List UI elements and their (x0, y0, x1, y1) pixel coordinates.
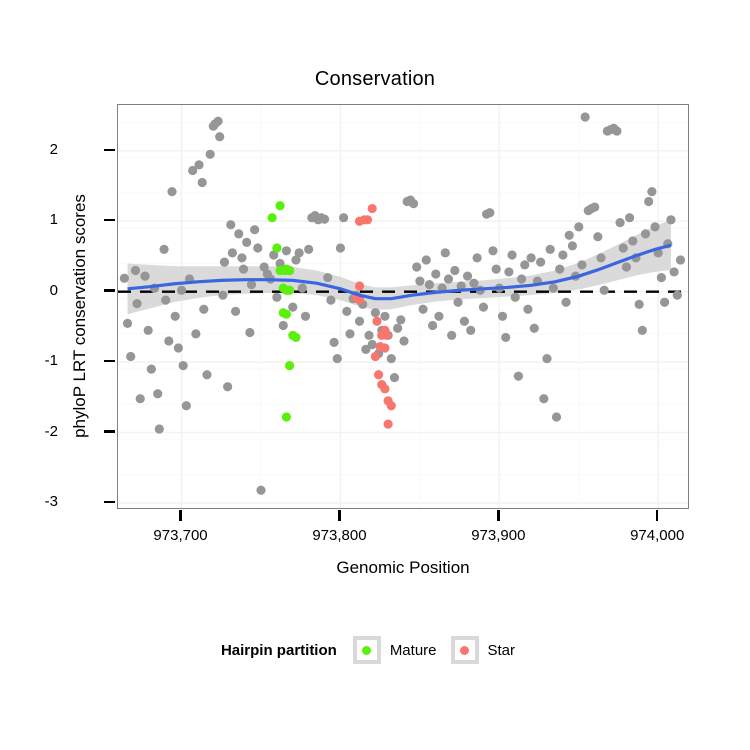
data-point (291, 333, 300, 342)
x-axis-title: Genomic Position (117, 558, 689, 578)
data-point (382, 331, 391, 340)
x-tick-label: 974,000 (597, 527, 717, 544)
data-point (396, 315, 405, 324)
data-point (323, 273, 332, 282)
legend-title: Hairpin partition (221, 642, 337, 659)
data-point (619, 243, 628, 252)
data-point (194, 160, 203, 169)
y-tick-label: 2 (0, 141, 58, 158)
data-point (144, 326, 153, 335)
data-point (676, 255, 685, 264)
data-point (202, 370, 211, 379)
data-point (469, 279, 478, 288)
data-point (527, 253, 536, 262)
data-point (673, 291, 682, 300)
data-point (415, 276, 424, 285)
data-point (368, 204, 377, 213)
data-point (660, 298, 669, 307)
data-point (256, 486, 265, 495)
y-tick (104, 501, 115, 504)
data-point (126, 352, 135, 361)
plot-canvas (118, 105, 689, 509)
data-point (342, 307, 351, 316)
data-point (228, 248, 237, 257)
data-point (329, 338, 338, 347)
data-point (581, 112, 590, 121)
data-point (242, 238, 251, 247)
data-point (393, 324, 402, 333)
data-point (355, 281, 364, 290)
data-point (282, 412, 291, 421)
conservation-scatter-chart: Conservation phyloP LRT conservation sco… (0, 0, 750, 750)
plot-panel (117, 104, 689, 509)
data-point (453, 298, 462, 307)
data-point (206, 150, 215, 159)
legend-item-mature[interactable]: Mature (353, 636, 437, 664)
data-point (412, 262, 421, 271)
legend-label: Star (488, 642, 516, 659)
data-point (285, 286, 294, 295)
data-point (641, 229, 650, 238)
data-point (422, 255, 431, 264)
data-point (447, 331, 456, 340)
data-point (355, 317, 364, 326)
data-point (635, 300, 644, 309)
data-point (279, 321, 288, 330)
data-point (650, 222, 659, 231)
data-point (384, 419, 393, 428)
legend: Hairpin partition MatureStar (0, 636, 750, 664)
data-point (511, 293, 520, 302)
x-tick (497, 510, 500, 521)
data-point (380, 384, 389, 393)
data-point (215, 132, 224, 141)
data-point (333, 354, 342, 363)
data-point (507, 250, 516, 259)
data-point (431, 269, 440, 278)
data-point (182, 401, 191, 410)
data-point (514, 372, 523, 381)
plot-panel-wrapper (117, 104, 689, 509)
data-point (363, 215, 372, 224)
data-point (622, 262, 631, 271)
data-point (546, 245, 555, 254)
data-point (479, 303, 488, 312)
data-point (542, 354, 551, 363)
data-point (488, 246, 497, 255)
y-tick (104, 360, 115, 363)
x-tick (179, 510, 182, 521)
data-point (504, 267, 513, 276)
data-point (140, 272, 149, 281)
data-point (466, 326, 475, 335)
y-tick-label: 1 (0, 211, 58, 228)
data-point (552, 412, 561, 421)
data-point (223, 382, 232, 391)
data-point (339, 213, 348, 222)
data-point (218, 291, 227, 300)
data-point (199, 305, 208, 314)
data-point (239, 265, 248, 274)
data-point (220, 257, 229, 266)
data-point (282, 310, 291, 319)
data-point (372, 317, 381, 326)
data-point (174, 343, 183, 352)
data-point (523, 305, 532, 314)
data-point (390, 373, 399, 382)
data-point (164, 336, 173, 345)
legend-key-swatch (353, 636, 381, 664)
legend-dot-icon (460, 646, 469, 655)
data-point (285, 361, 294, 370)
data-point (131, 266, 140, 275)
data-point (234, 229, 243, 238)
data-point (247, 280, 256, 289)
data-point (177, 286, 186, 295)
data-point (517, 274, 526, 283)
legend-label: Mature (390, 642, 437, 659)
data-point (226, 220, 235, 229)
legend-dot-icon (362, 646, 371, 655)
data-point (463, 272, 472, 281)
data-point (460, 317, 469, 326)
data-point (136, 394, 145, 403)
data-point (568, 241, 577, 250)
data-point (577, 260, 586, 269)
data-point (444, 274, 453, 283)
y-tick-label: 0 (0, 282, 58, 299)
data-point (450, 266, 459, 275)
data-point (600, 286, 609, 295)
data-point (275, 201, 284, 210)
data-point (288, 303, 297, 312)
data-point (441, 248, 450, 257)
data-point (147, 365, 156, 374)
x-tick (338, 510, 341, 521)
data-point (191, 329, 200, 338)
data-point (561, 298, 570, 307)
data-point (387, 401, 396, 410)
data-point (596, 253, 605, 262)
data-point (501, 333, 510, 342)
data-point (399, 336, 408, 345)
data-point (132, 299, 141, 308)
data-point (237, 253, 246, 262)
data-point (428, 321, 437, 330)
data-point (231, 307, 240, 316)
legend-entries: MatureStar (353, 636, 529, 664)
data-point (425, 280, 434, 289)
data-point (644, 197, 653, 206)
data-point (558, 250, 567, 259)
data-point (520, 260, 529, 269)
data-point (574, 222, 583, 231)
data-point (268, 213, 277, 222)
data-point (159, 245, 168, 254)
data-point (555, 265, 564, 274)
data-point (549, 284, 558, 293)
data-point (530, 324, 539, 333)
data-point (565, 231, 574, 240)
data-point (418, 305, 427, 314)
data-point (214, 117, 223, 126)
x-tick-label: 973,800 (279, 527, 399, 544)
y-tick-label: -3 (0, 493, 58, 510)
data-point (298, 284, 307, 293)
y-tick (104, 149, 115, 152)
page-title: Conservation (0, 68, 750, 91)
data-point (320, 215, 329, 224)
data-point (666, 215, 675, 224)
data-point (612, 126, 621, 135)
y-tick-label: -1 (0, 352, 58, 369)
data-point (120, 274, 129, 283)
data-point (272, 293, 281, 302)
data-point (155, 424, 164, 433)
data-point (336, 243, 345, 252)
data-point (371, 352, 380, 361)
data-point (492, 265, 501, 274)
data-point (434, 312, 443, 321)
data-point (198, 178, 207, 187)
x-tick-label: 973,700 (121, 527, 241, 544)
data-point (304, 245, 313, 254)
data-point (536, 257, 545, 266)
y-tick (104, 289, 115, 292)
data-point (345, 329, 354, 338)
data-point (295, 248, 304, 257)
data-point (380, 312, 389, 321)
data-point (539, 394, 548, 403)
y-tick (104, 430, 115, 433)
data-point (371, 308, 380, 317)
data-point (285, 266, 294, 275)
data-point (326, 296, 335, 305)
data-point (301, 312, 310, 321)
data-point (670, 267, 679, 276)
data-point (179, 361, 188, 370)
data-point (625, 213, 634, 222)
data-point (615, 218, 624, 227)
legend-key-swatch (451, 636, 479, 664)
data-point (161, 296, 170, 305)
data-point (498, 312, 507, 321)
data-point (171, 312, 180, 321)
data-point (647, 187, 656, 196)
x-tick-label: 973,900 (438, 527, 558, 544)
data-point (123, 319, 132, 328)
y-tick-label: -2 (0, 423, 58, 440)
data-point (253, 243, 262, 252)
data-point (368, 340, 377, 349)
data-point (387, 354, 396, 363)
x-tick (656, 510, 659, 521)
data-point (590, 203, 599, 212)
data-point (245, 328, 254, 337)
data-point (250, 225, 259, 234)
y-axis-title: phyloP LRT conservation scores (70, 106, 90, 526)
data-point (153, 389, 162, 398)
data-point (282, 246, 291, 255)
y-tick (104, 219, 115, 222)
data-point (472, 253, 481, 262)
data-point (380, 343, 389, 352)
data-point (593, 232, 602, 241)
data-point (364, 331, 373, 340)
data-point (628, 236, 637, 245)
data-point (272, 243, 281, 252)
legend-item-star[interactable]: Star (451, 636, 516, 664)
data-point (374, 370, 383, 379)
data-point (638, 326, 647, 335)
data-point (167, 187, 176, 196)
data-point (485, 208, 494, 217)
data-point (409, 199, 418, 208)
data-point (657, 273, 666, 282)
